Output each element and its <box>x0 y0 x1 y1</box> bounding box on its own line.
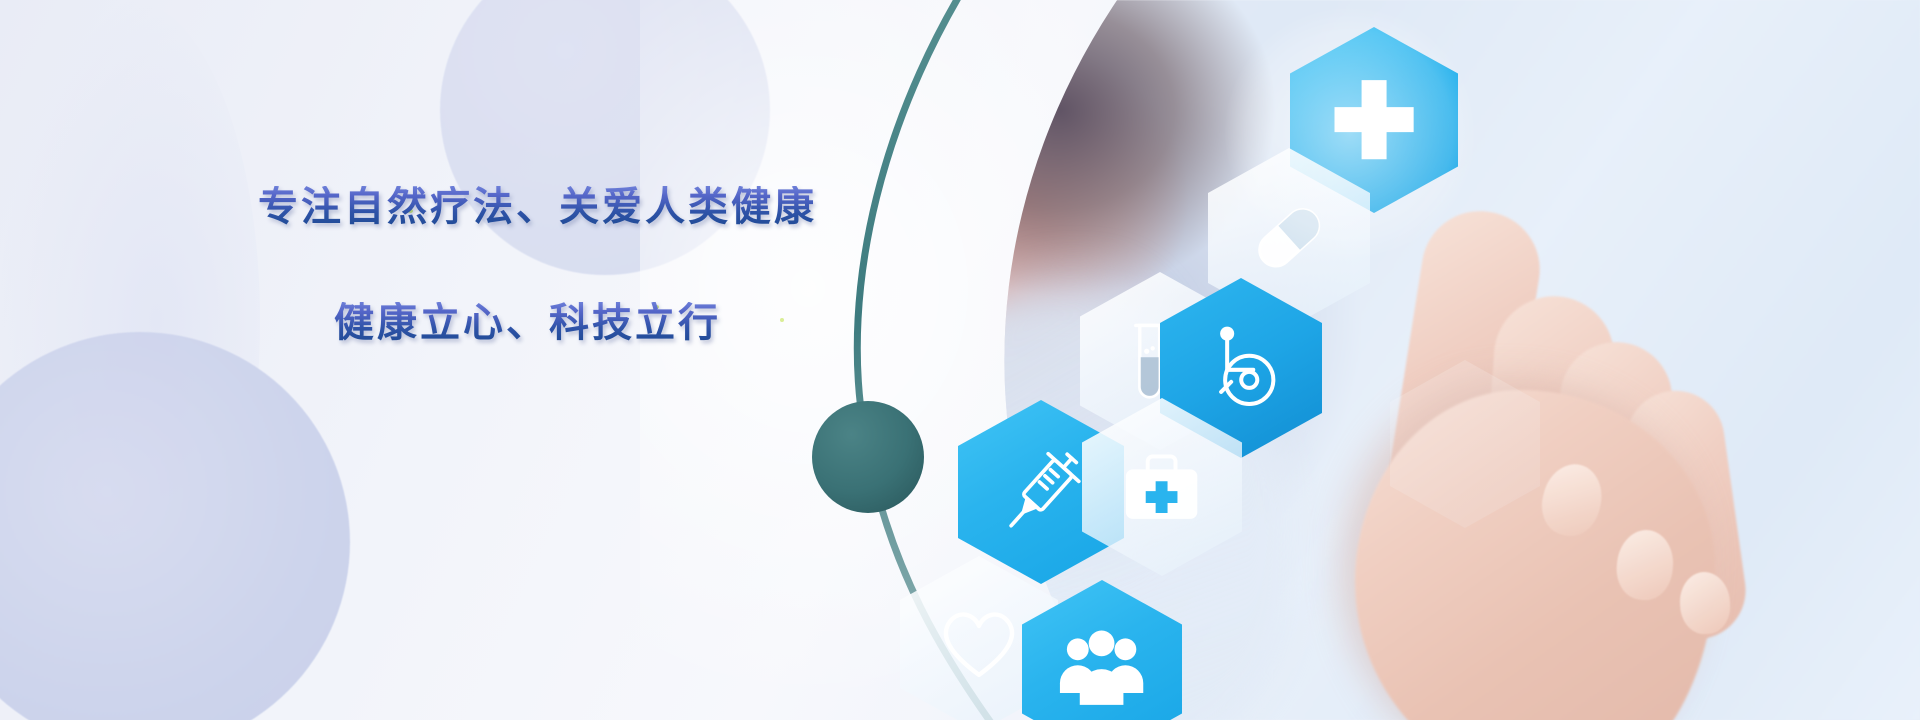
first-aid-kit-icon <box>1112 432 1211 542</box>
hero-banner: 专注自然疗法、关爱人类健康 健康立心、科技立行 <box>0 0 1920 720</box>
syringe-icon <box>990 435 1093 549</box>
headline-line-1: 专注自然疗法、关爱人类健康 <box>258 186 898 228</box>
wheelchair-icon <box>1191 312 1291 424</box>
headline-line-2: 健康立心、科技立行 <box>334 302 898 344</box>
heart-icon <box>930 589 1028 698</box>
decorative-circle-bottom <box>0 332 350 720</box>
people-group-icon <box>1052 614 1151 720</box>
headline-block: 专注自然疗法、关爱人类健康 健康立心、科技立行 <box>258 186 898 344</box>
hexagon-cluster <box>830 0 1920 720</box>
hex-ghost-decoration <box>1390 360 1540 528</box>
cross-halo <box>1225 8 1475 258</box>
